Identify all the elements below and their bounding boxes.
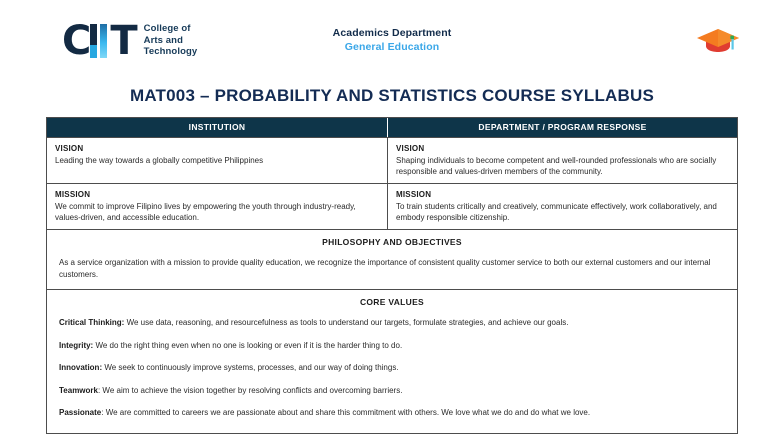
core-value-text: : We aim to achieve the vision together … (98, 386, 402, 395)
core-value-text: We seek to continuously improve systems,… (102, 363, 398, 372)
vision-department-cell: VISION Shaping individuals to become com… (388, 138, 737, 183)
core-value-label: Passionate (59, 408, 101, 417)
header-center-text: Academics Department General Education (0, 26, 784, 54)
column-header-department-program-response: DEPARTMENT / PROGRAM RESPONSE (388, 118, 737, 137)
mission-department-heading: MISSION (396, 189, 729, 200)
vision-institution-body: Leading the way towards a globally compe… (55, 155, 379, 166)
core-value-label: Teamwork (59, 386, 98, 395)
column-header-institution: INSTITUTION (47, 118, 388, 137)
core-values-section-title: CORE VALUES (57, 297, 727, 307)
table-row: MISSION We commit to improve Filipino li… (47, 183, 737, 229)
vision-institution-heading: VISION (55, 143, 379, 154)
table-header-row: INSTITUTION DEPARTMENT / PROGRAM RESPONS… (47, 118, 737, 137)
core-value-item: Integrity: We do the right thing even wh… (57, 340, 727, 352)
vision-department-body: Shaping individuals to become competent … (396, 155, 729, 177)
document-header: C T College of Arts and Technology Acade… (0, 0, 784, 78)
core-value-item: Passionate: We are committed to careers … (57, 407, 727, 419)
mission-department-cell: MISSION To train students critically and… (388, 184, 737, 229)
core-value-label: Critical Thinking: (59, 318, 124, 327)
core-values-section: CORE VALUES Critical Thinking: We use da… (47, 289, 737, 433)
philosophy-section-body: As a service organization with a mission… (57, 257, 727, 280)
vision-institution-cell: VISION Leading the way towards a globall… (47, 138, 388, 183)
department-label: Academics Department (0, 26, 784, 40)
core-value-text: : We are committed to careers we are pas… (101, 408, 590, 417)
core-value-text: We do the right thing even when no one i… (93, 341, 402, 350)
page-title: MAT003 – PROBABILITY AND STATISTICS COUR… (0, 86, 784, 106)
core-value-text: We use data, reasoning, and resourcefuln… (124, 318, 568, 327)
core-value-label: Innovation: (59, 363, 102, 372)
program-label: General Education (0, 40, 784, 54)
table-row: VISION Leading the way towards a globall… (47, 137, 737, 183)
core-value-label: Integrity: (59, 341, 93, 350)
philosophy-section: PHILOSOPHY AND OBJECTIVES As a service o… (47, 229, 737, 289)
graduation-cap-icon (694, 26, 742, 56)
mission-institution-cell: MISSION We commit to improve Filipino li… (47, 184, 388, 229)
mission-institution-body: We commit to improve Filipino lives by e… (55, 201, 379, 223)
mission-department-body: To train students critically and creativ… (396, 201, 729, 223)
core-value-item: Innovation: We seek to continuously impr… (57, 362, 727, 374)
vision-department-heading: VISION (396, 143, 729, 154)
mission-institution-heading: MISSION (55, 189, 379, 200)
syllabus-table: INSTITUTION DEPARTMENT / PROGRAM RESPONS… (46, 117, 738, 434)
philosophy-section-title: PHILOSOPHY AND OBJECTIVES (57, 237, 727, 247)
core-value-item: Critical Thinking: We use data, reasonin… (57, 317, 727, 329)
core-value-item: Teamwork: We aim to achieve the vision t… (57, 385, 727, 397)
